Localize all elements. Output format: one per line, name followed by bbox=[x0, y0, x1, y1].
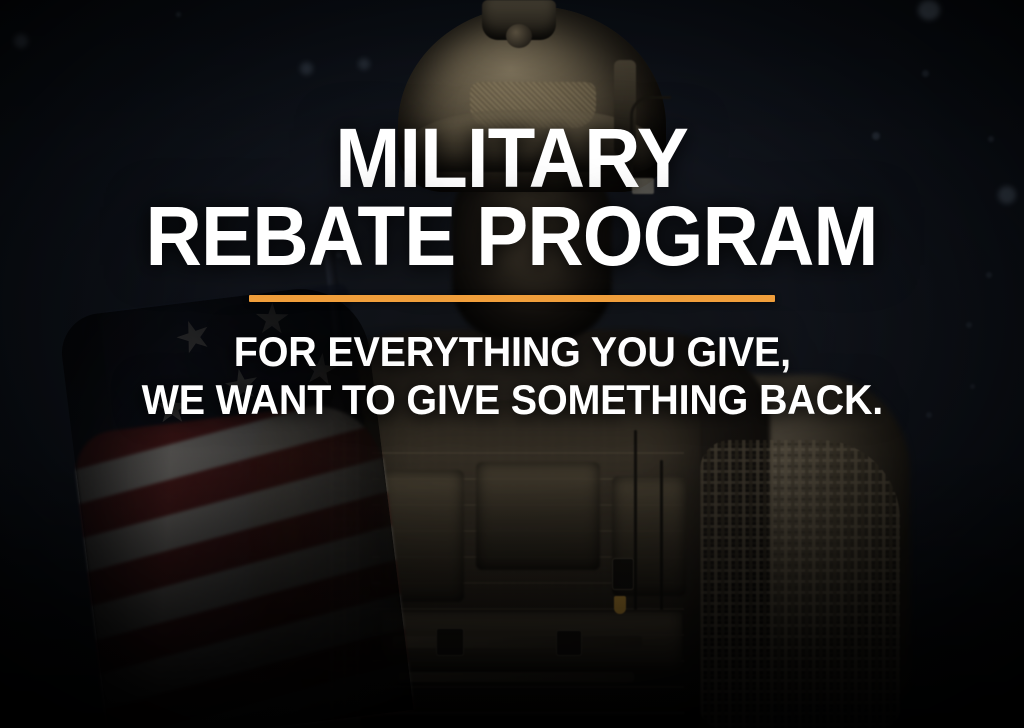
subtitle-line-1: FOR EVERYTHING YOU GIVE, bbox=[141, 328, 882, 376]
orange-divider bbox=[249, 295, 775, 302]
military-rebate-banner: MILITARY REBATE PROGRAM FOR EVERYTHING Y… bbox=[0, 0, 1024, 728]
subtitle: FOR EVERYTHING YOU GIVE, WE WANT TO GIVE… bbox=[141, 328, 882, 424]
headline-line-1: MILITARY bbox=[146, 119, 878, 197]
banner-content: MILITARY REBATE PROGRAM FOR EVERYTHING Y… bbox=[0, 0, 1024, 728]
page-title: MILITARY REBATE PROGRAM bbox=[146, 119, 878, 275]
subtitle-line-2: WE WANT TO GIVE SOMETHING BACK. bbox=[141, 376, 882, 424]
headline-line-2: REBATE PROGRAM bbox=[146, 197, 878, 275]
